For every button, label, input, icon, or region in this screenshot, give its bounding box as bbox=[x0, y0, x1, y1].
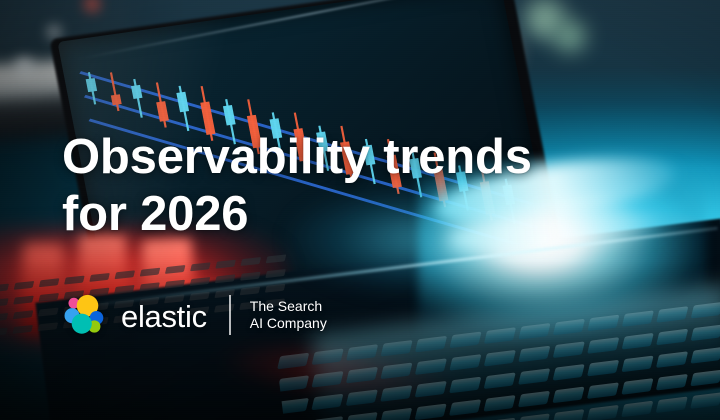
banner-content: Observability trends for 2026 elastic Th… bbox=[0, 0, 720, 420]
elastic-tagline-line-2: AI Company bbox=[250, 315, 327, 332]
logo-divider bbox=[229, 295, 231, 335]
banner-image: Observability trends for 2026 elastic Th… bbox=[0, 0, 720, 420]
elastic-tagline-line-1: The Search bbox=[250, 298, 327, 315]
elastic-logo-lockup[interactable]: elastic The Search AI Company bbox=[62, 292, 327, 338]
elastic-tagline: The Search AI Company bbox=[250, 298, 327, 332]
page-title: Observability trends for 2026 bbox=[62, 129, 672, 243]
page-title-line-1: Observability trends bbox=[62, 129, 672, 186]
elastic-wordmark: elastic bbox=[121, 301, 207, 332]
elastic-logo-mark-icon bbox=[62, 292, 108, 338]
page-title-line-2: for 2026 bbox=[62, 186, 672, 243]
